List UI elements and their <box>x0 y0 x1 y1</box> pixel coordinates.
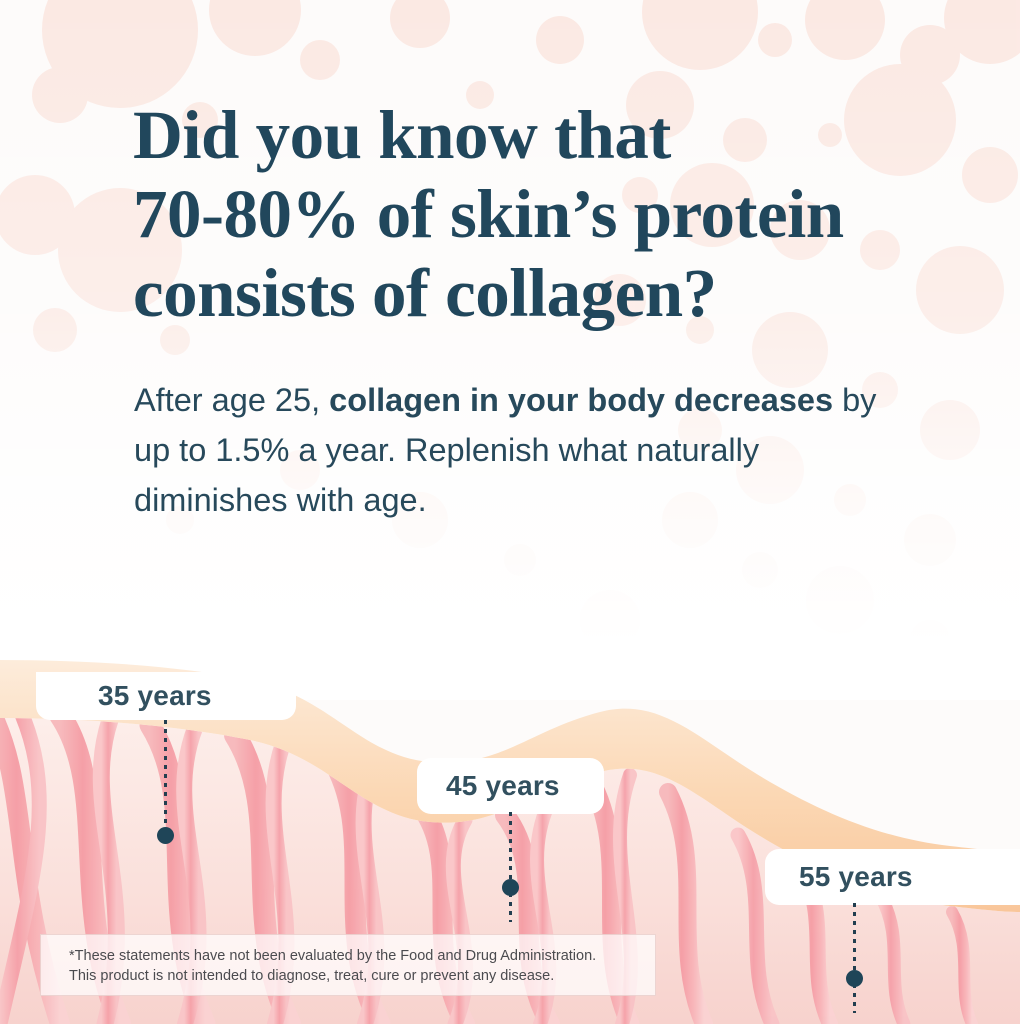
fda-disclaimer: *These statements have not been evaluate… <box>40 934 656 996</box>
age-marker-35-label: 35 years <box>98 680 212 712</box>
age-marker-45-label: 45 years <box>446 770 560 802</box>
age-marker-55-leader-line <box>853 903 856 1013</box>
body-text-part1: After age 25, <box>134 382 329 418</box>
age-marker-45-label-box: 45 years <box>417 758 604 814</box>
body-paragraph: After age 25, collagen in your body decr… <box>134 375 894 525</box>
age-marker-35-label-box: 35 years <box>36 672 296 720</box>
page-title: Did you know that 70-80% of skin’s prote… <box>133 96 953 333</box>
age-marker-55-label: 55 years <box>799 861 913 893</box>
age-marker-55-label-box: 55 years <box>765 849 1020 905</box>
age-marker-55-point <box>846 970 863 987</box>
infographic-poster: Did you know that 70-80% of skin’s prote… <box>0 0 1020 1024</box>
body-text-emphasis: collagen in your body decreases <box>329 382 833 418</box>
